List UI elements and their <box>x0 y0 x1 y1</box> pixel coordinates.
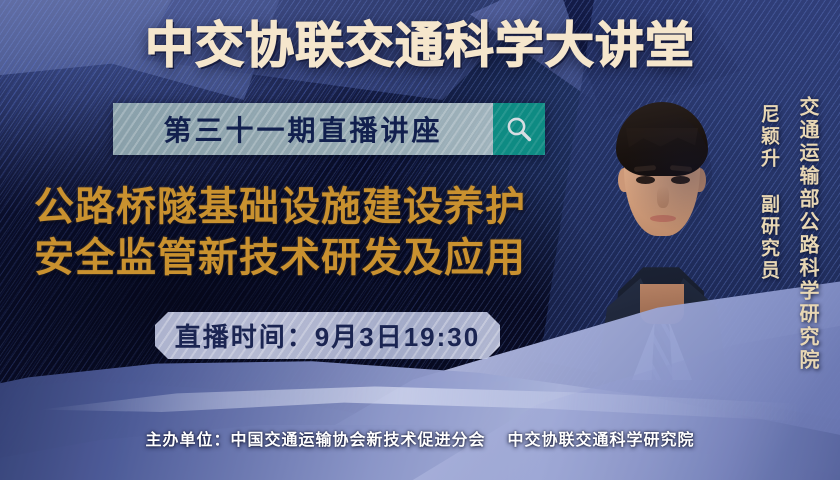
speaker-portrait <box>586 84 736 380</box>
episode-banner-body: 第三十一期直播讲座 <box>113 103 493 155</box>
speaker-organization: 交通运输部公路科学研究院 <box>793 96 822 372</box>
headline-line-2: 安全监管新技术研发及应用 <box>34 233 574 284</box>
footer-organizer: 主办单位：中国交通运输协会新技术促进分会 <box>145 432 485 449</box>
schedule-badge: 直播时间：9月3日19:30 <box>155 312 500 359</box>
search-icon[interactable] <box>493 103 545 155</box>
page-title: 中交协联交通科学大讲堂 <box>0 18 840 74</box>
portrait-neck <box>640 284 684 324</box>
live-stream-poster: 中交协联交通科学大讲堂 第三十一期直播讲座 公路桥隧基础设施建设养护 安全监管新… <box>0 0 840 480</box>
schedule-label: 直播时间：9月3日19:30 <box>175 317 480 354</box>
footer-organizers: 主办单位：中国交通运输协会新技术促进分会中交协联交通科学研究院 <box>0 426 840 450</box>
headline-line-1: 公路桥隧基础设施建设养护 <box>34 182 574 233</box>
episode-label: 第三十一期直播讲座 <box>163 109 442 149</box>
lecture-headline: 公路桥隧基础设施建设养护 安全监管新技术研发及应用 <box>34 182 574 284</box>
portrait-shading <box>616 112 712 242</box>
speaker-name-title: 尼颖升 副研究员 <box>755 104 782 282</box>
footer-co-organizer: 中交协联交通科学研究院 <box>508 432 695 449</box>
episode-banner: 第三十一期直播讲座 <box>113 103 545 155</box>
